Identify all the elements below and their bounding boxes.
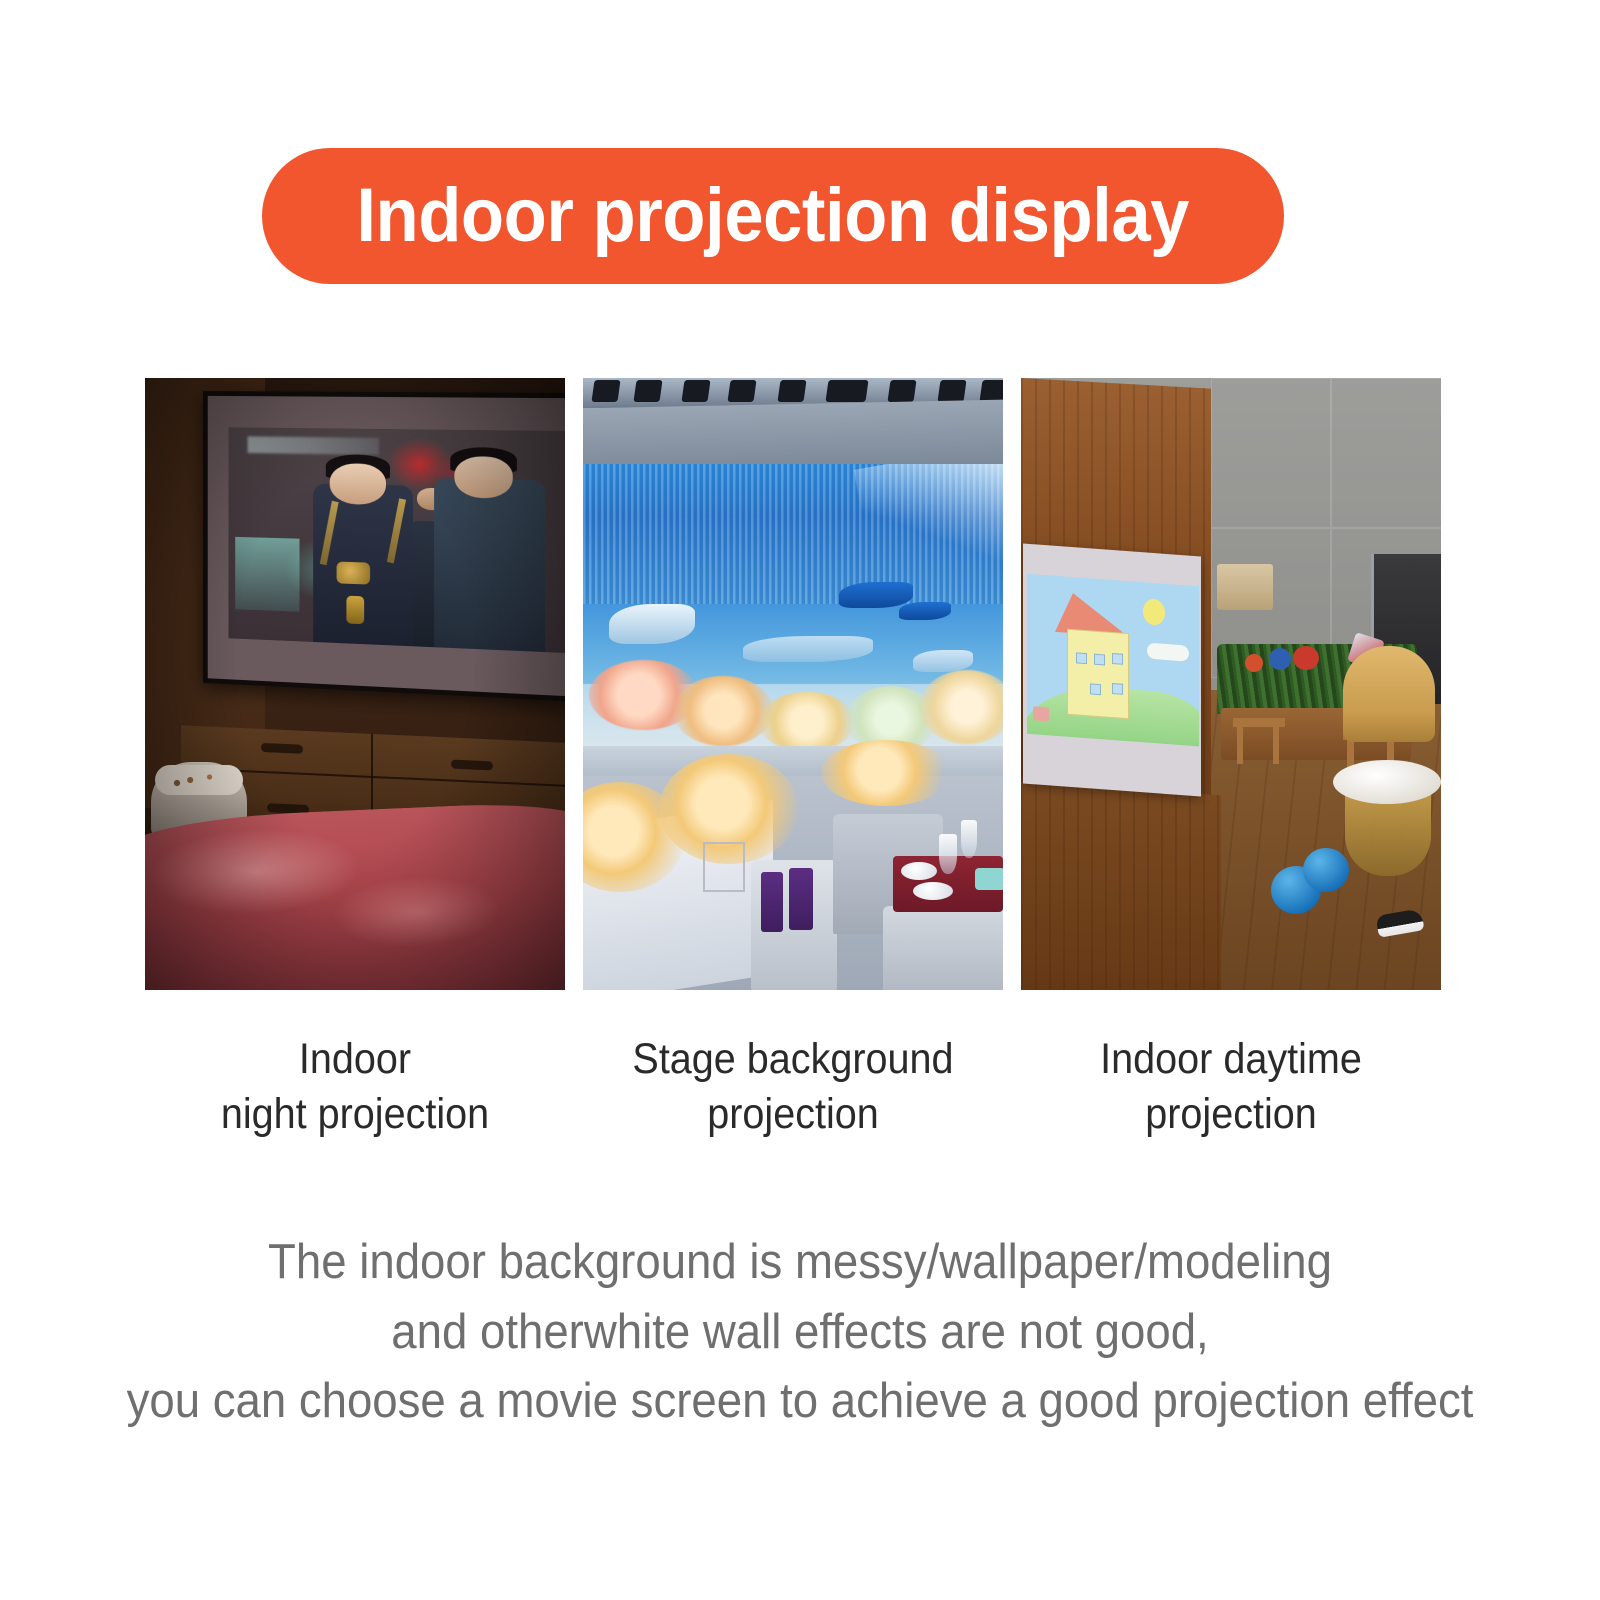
caption-line-2: night projection <box>162 1087 548 1142</box>
stage-light-7 <box>887 380 916 402</box>
wine-glass-b <box>961 820 977 858</box>
underwater-projection <box>583 464 1003 754</box>
caption-line-1: Stage background <box>600 1032 986 1087</box>
banquet-chair-front <box>883 906 1003 990</box>
cartoon-window-3 <box>1112 653 1123 665</box>
dinner-plate-a <box>901 862 937 880</box>
caption-line-2: projection <box>600 1087 986 1142</box>
wood-divider-wall-lower <box>1021 778 1221 990</box>
stage-light-3 <box>681 380 710 402</box>
centerpiece-stand <box>703 842 745 892</box>
fish-right <box>913 650 973 672</box>
panel-stage-background <box>583 378 1003 990</box>
ornament-blue <box>1269 648 1291 670</box>
panel-indoor-night <box>145 378 565 990</box>
fish-blue-b <box>899 602 951 620</box>
cartoon-window-2 <box>1094 654 1105 666</box>
wall-tile-a <box>1211 378 1331 528</box>
armchair <box>1343 646 1435 742</box>
page-title: Indoor projection display <box>357 178 1190 254</box>
scene-indoor-daytime <box>1021 378 1441 990</box>
cartoon-sun <box>1143 598 1165 626</box>
blue-ball-back <box>1303 848 1349 892</box>
caption-line-1: Indoor <box>162 1032 548 1087</box>
title-banner: Indoor projection display <box>262 148 1284 284</box>
projection-screen-daytime <box>1023 543 1201 796</box>
chair-purple-accent-a <box>761 872 783 932</box>
night-vignette <box>145 378 565 990</box>
fish-school <box>743 636 873 662</box>
stool-leg-b2 <box>1273 726 1279 764</box>
caption-stage-background: Stage background projection <box>600 1032 986 1142</box>
projected-cartoon-image <box>1027 574 1199 747</box>
panel-captions: Indoor night projection Stage background… <box>145 1032 1457 1142</box>
fish-large-pale <box>609 604 695 644</box>
scene-stage-background <box>583 378 1003 990</box>
chair-purple-accent-b <box>789 868 813 930</box>
stage-light-2 <box>633 380 662 402</box>
banquet-area <box>583 776 1003 990</box>
caption-indoor-night: Indoor night projection <box>162 1032 548 1142</box>
round-side-table <box>1333 760 1441 804</box>
coral-center <box>759 692 855 752</box>
cartoon-small-roof <box>1033 706 1049 721</box>
ornament-red-a <box>1245 654 1263 672</box>
stage-light-1 <box>591 380 620 402</box>
dinner-plate-b <box>913 882 953 900</box>
stool-leg-b1 <box>1237 726 1243 764</box>
stage-light-5 <box>777 380 806 402</box>
ornament-red-b <box>1293 646 1319 670</box>
cartoon-cloud <box>1147 643 1189 662</box>
cartoon-window-1 <box>1076 652 1087 664</box>
fish-blue-a <box>839 582 913 608</box>
caption-line-2: projection <box>1038 1087 1424 1142</box>
scene-indoor-night <box>145 378 565 990</box>
stage-light-6 <box>825 380 868 402</box>
wall-tile-b <box>1331 378 1441 528</box>
stage-light-8 <box>937 380 966 402</box>
product-feature-page: Indoor projection display <box>0 0 1600 1600</box>
stage-light-4 <box>727 380 756 402</box>
footer-line-2: and otherwhite wall effects are not good… <box>56 1298 1544 1368</box>
cartoon-window-4 <box>1090 683 1101 695</box>
cartoon-window-5 <box>1112 683 1123 695</box>
floral-centerpiece-back <box>821 740 951 806</box>
panel-indoor-daytime <box>1021 378 1441 990</box>
wine-glass-a <box>939 834 957 874</box>
footer-line-1: The indoor background is messy/wallpaper… <box>56 1228 1544 1298</box>
floor-lamp-shade <box>1217 564 1273 610</box>
cartoon-house-body <box>1067 629 1129 720</box>
caption-indoor-daytime: Indoor daytime projection <box>1038 1032 1424 1142</box>
footer-line-3: you can choose a movie screen to achieve… <box>56 1367 1544 1437</box>
teal-napkin <box>975 868 1003 890</box>
caption-line-1: Indoor daytime <box>1038 1032 1424 1087</box>
coral-mid-left <box>673 676 773 746</box>
panel-gallery <box>145 378 1457 990</box>
footer-description: The indoor background is messy/wallpaper… <box>56 1228 1544 1437</box>
